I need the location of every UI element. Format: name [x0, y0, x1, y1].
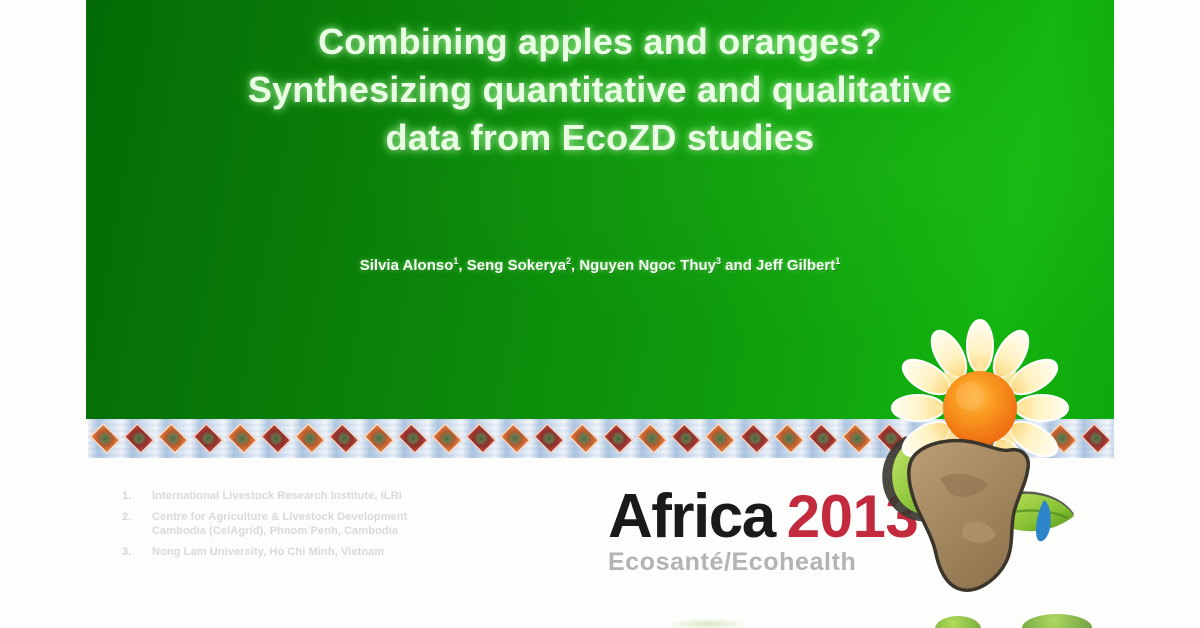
author-name-2: Seng Sokerya — [467, 257, 566, 274]
diamond-motif — [226, 423, 257, 454]
diamond-motif-row — [88, 419, 1114, 458]
diamond-motif — [602, 423, 633, 454]
diamond-motif — [329, 423, 360, 454]
diamond-motif — [124, 423, 155, 454]
diamond-motif — [910, 423, 941, 454]
author-sep-3: and — [721, 257, 756, 274]
diamond-motif — [431, 423, 462, 454]
list-item: 1. International Livestock Research Inst… — [122, 490, 442, 503]
logo-wordmark: Africa 2013 — [608, 486, 918, 548]
title-panel: Combining apples and oranges? Synthesizi… — [86, 0, 1114, 419]
diamond-motif — [1013, 423, 1044, 454]
diamond-motif — [1047, 423, 1078, 454]
affiliation-text: International Livestock Research Institu… — [152, 490, 442, 503]
author-marker-4: 1 — [835, 256, 840, 266]
authors-line: Silvia Alonso1, Seng Sokerya2, Nguyen Ng… — [86, 256, 1114, 274]
diamond-motif — [466, 423, 497, 454]
affiliation-text: Centre for Agriculture & Livestock Devel… — [152, 511, 442, 538]
affiliation-number: 2. — [122, 511, 152, 524]
diamond-motif — [978, 423, 1009, 454]
author-name-1: Silvia Alonso — [360, 257, 454, 274]
author-sep-1: , — [458, 257, 466, 274]
diamond-motif — [773, 423, 804, 454]
author-name-4: Jeff Gilbert — [756, 257, 835, 274]
africa-continent-icon — [909, 441, 1029, 591]
diamond-motif — [192, 423, 223, 454]
affiliation-list: 1. International Livestock Research Inst… — [122, 490, 442, 568]
bottom-decoration-smudge — [668, 618, 748, 628]
affiliation-text: Nong Lam University, Ho Chi Minh, Vietna… — [152, 546, 442, 559]
diamond-motif — [568, 423, 599, 454]
madagascar-icon — [1036, 500, 1051, 541]
diamond-motif — [534, 423, 565, 454]
title-line-2: Synthesizing quantitative and qualitativ… — [86, 66, 1114, 114]
title-line-3: data from EcoZD studies — [86, 114, 1114, 162]
diamond-motif — [705, 423, 736, 454]
diamond-motif — [842, 423, 873, 454]
bottom-leaf-icon-b — [1022, 614, 1092, 628]
diamond-motif — [397, 423, 428, 454]
diamond-motif — [295, 423, 326, 454]
diamond-motif — [260, 423, 291, 454]
logo-word-africa: Africa — [608, 486, 775, 548]
logo-tagline: Ecosanté/Ecohealth — [608, 549, 918, 575]
diamond-motif — [637, 423, 668, 454]
woven-textile-border — [88, 419, 1114, 458]
diamond-motif — [500, 423, 531, 454]
diamond-motif — [1081, 423, 1112, 454]
diamond-motif — [944, 423, 975, 454]
diamond-motif — [158, 423, 189, 454]
diamond-motif — [90, 423, 121, 454]
presentation-slide: Combining apples and oranges? Synthesizi… — [0, 0, 1200, 628]
affiliation-number: 3. — [122, 546, 152, 559]
diamond-motif — [807, 423, 838, 454]
diamond-motif — [876, 423, 907, 454]
list-item: 3. Nong Lam University, Ho Chi Minh, Vie… — [122, 546, 442, 559]
diamond-motif — [671, 423, 702, 454]
author-name-3: Nguyen Ngoc Thuy — [579, 257, 716, 274]
diamond-motif — [739, 423, 770, 454]
leaf-icon — [998, 491, 1074, 531]
bottom-leaf-icon-a — [935, 616, 981, 628]
logo-word-year: 2013 — [787, 487, 918, 547]
title-line-1: Combining apples and oranges? — [86, 18, 1114, 66]
list-item: 2. Centre for Agriculture & Livestock De… — [122, 511, 442, 538]
affiliation-number: 1. — [122, 490, 152, 503]
diamond-motif — [363, 423, 394, 454]
africa-2013-logo: Africa 2013 Ecosanté/Ecohealth — [608, 486, 918, 575]
page-title: Combining apples and oranges? Synthesizi… — [86, 18, 1114, 162]
